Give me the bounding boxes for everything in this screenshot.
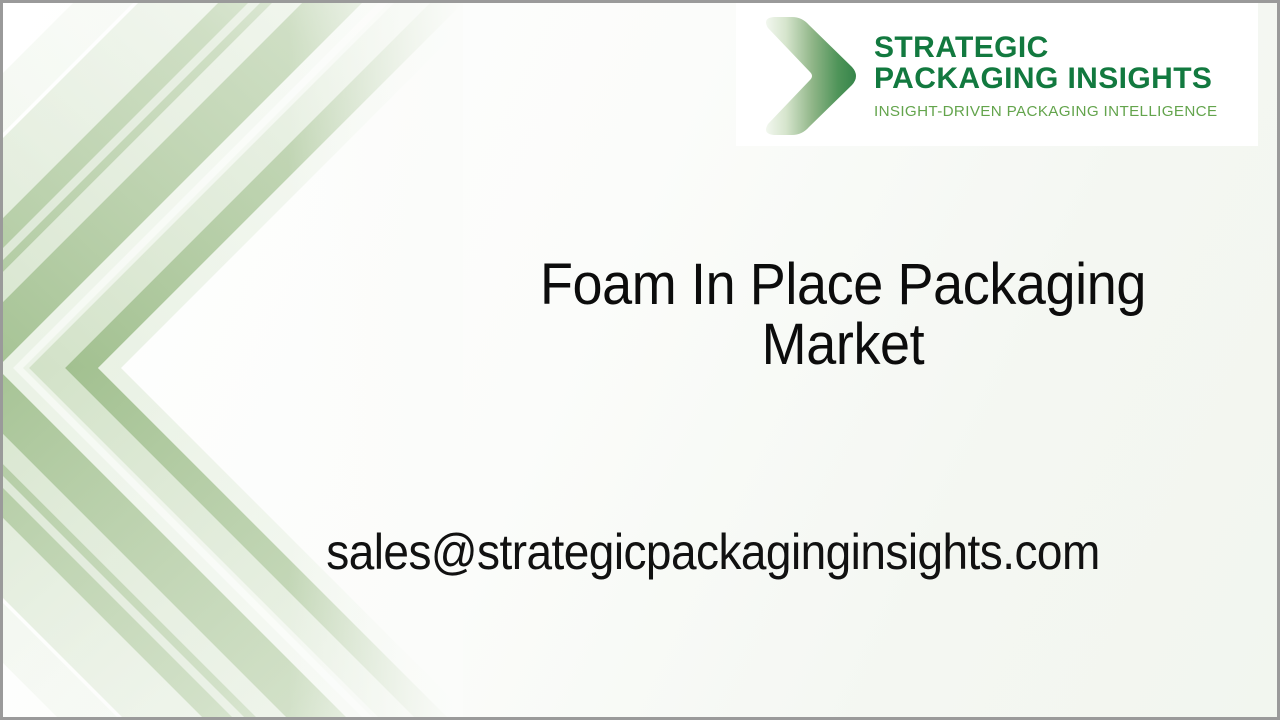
chevron-highlight-slivers: [3, 3, 463, 717]
contact-block: sales@strategicpackaginginsights.com: [203, 523, 1223, 581]
chevron-arrow-mark-icon: [756, 12, 860, 140]
chevron-upper-bands: [3, 3, 463, 368]
logo-brand-line-2: PACKAGING INSIGHTS: [874, 64, 1217, 95]
logo-brand-line-1: STRATEGIC: [874, 33, 1217, 64]
page-title: Foam In Place Packaging Market: [471, 255, 1215, 376]
presentation-slide: STRATEGIC PACKAGING INSIGHTS INSIGHT-DRI…: [0, 0, 1280, 720]
logo-tagline: INSIGHT-DRIVEN PACKAGING INTELLIGENCE: [874, 103, 1217, 120]
diagonal-chevron-bands-decoration: [3, 3, 463, 717]
logo-text-block: STRATEGIC PACKAGING INSIGHTS INSIGHT-DRI…: [874, 33, 1217, 121]
decoration-svg: [3, 3, 463, 717]
title-block: Foam In Place Packaging Market: [443, 255, 1243, 376]
contact-email: sales@strategicpackaginginsights.com: [244, 523, 1182, 581]
company-logo: STRATEGIC PACKAGING INSIGHTS INSIGHT-DRI…: [736, 3, 1258, 146]
